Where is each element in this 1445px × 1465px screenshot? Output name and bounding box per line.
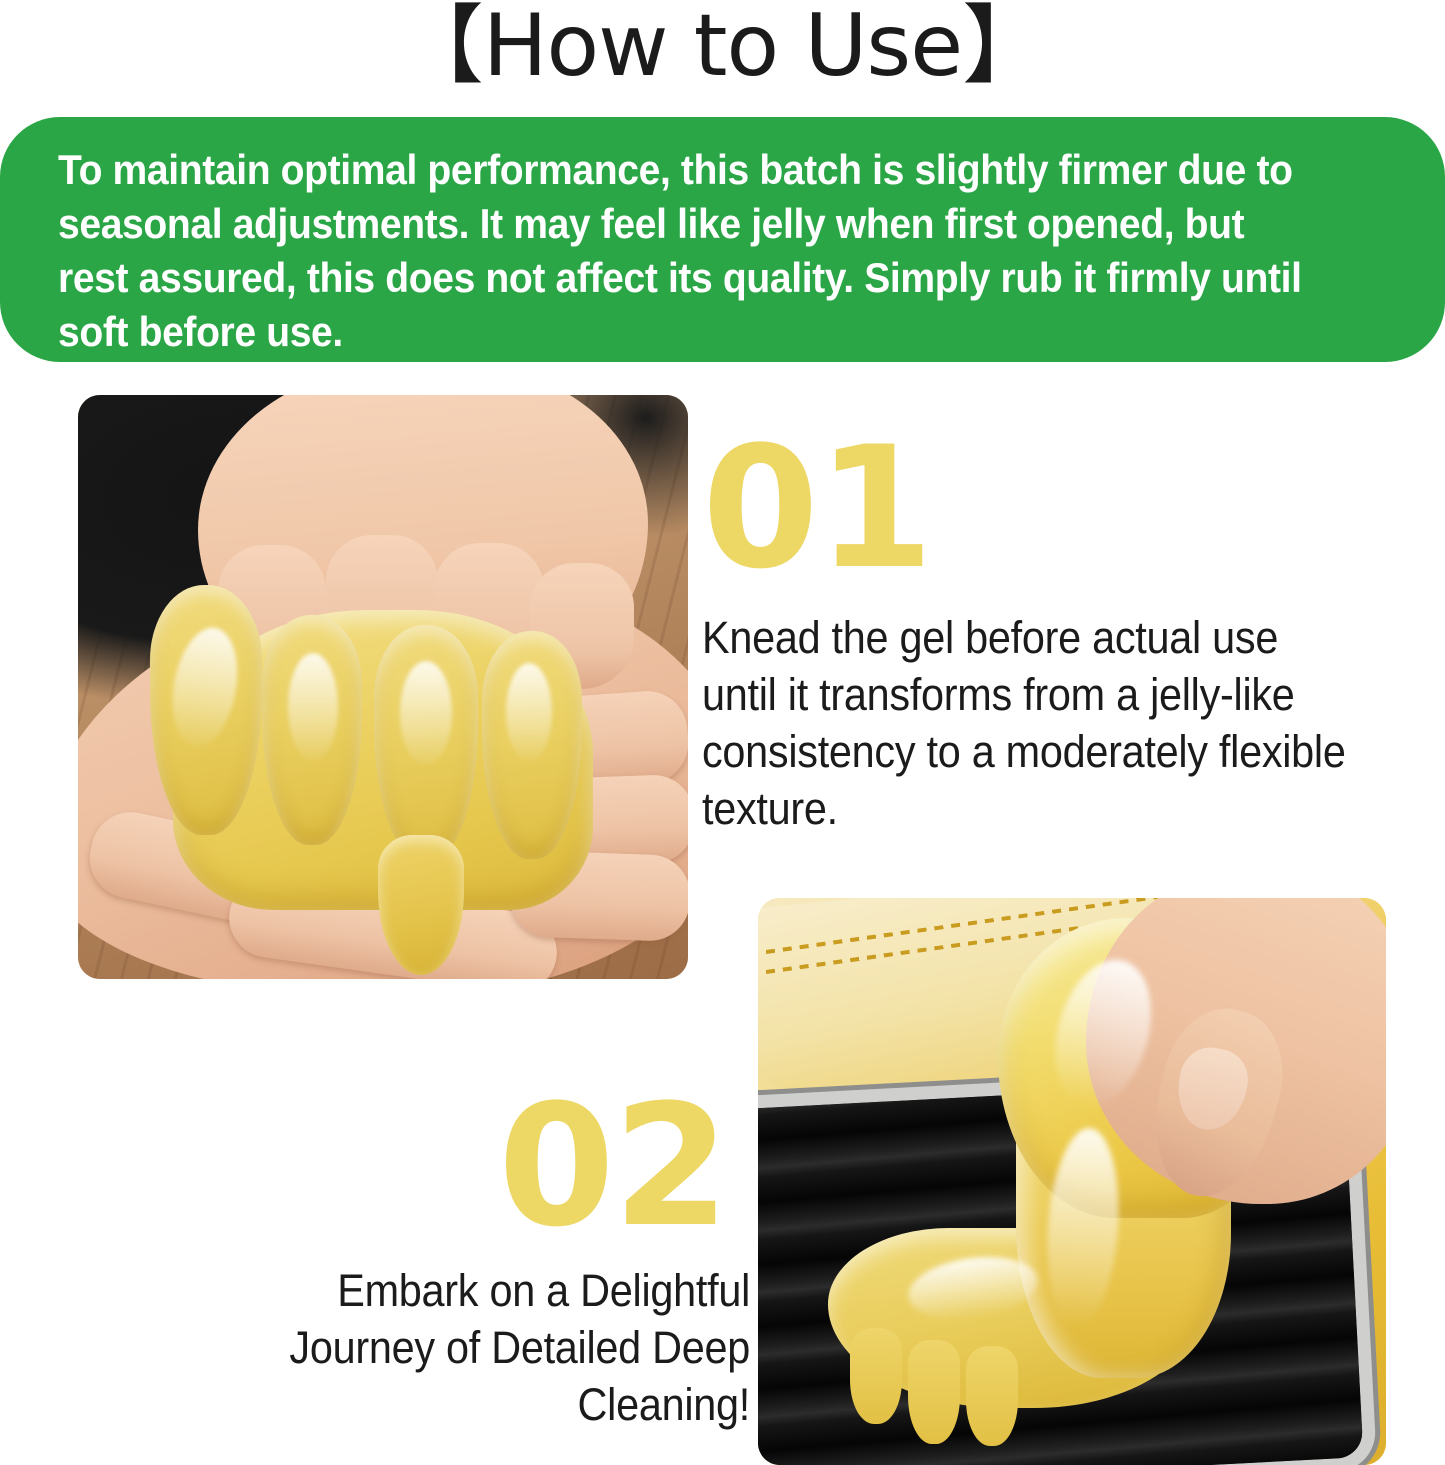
step-2-photo-gel-cleaning-car-vent [758,898,1386,1465]
gel-highlight [288,653,338,761]
page-title: 【How to Use】 [0,0,1445,96]
gel-tendril [966,1346,1018,1446]
notice-banner: To maintain optimal performance, this ba… [0,117,1445,362]
step-1-photo-hand-kneading-gel [78,395,688,979]
gel-tendril [908,1340,960,1444]
step-1-description: Knead the gel before actual use until it… [702,609,1346,837]
gel-tendril [850,1328,902,1424]
gel-highlight [400,661,452,765]
step-2-description: Embark on a Delightful Journey of Detail… [230,1262,750,1433]
step-1-number: 01 [702,424,932,592]
gel-highlight [506,663,552,761]
step-2-number: 02 [498,1082,728,1250]
notice-text: To maintain optimal performance, this ba… [58,143,1311,359]
